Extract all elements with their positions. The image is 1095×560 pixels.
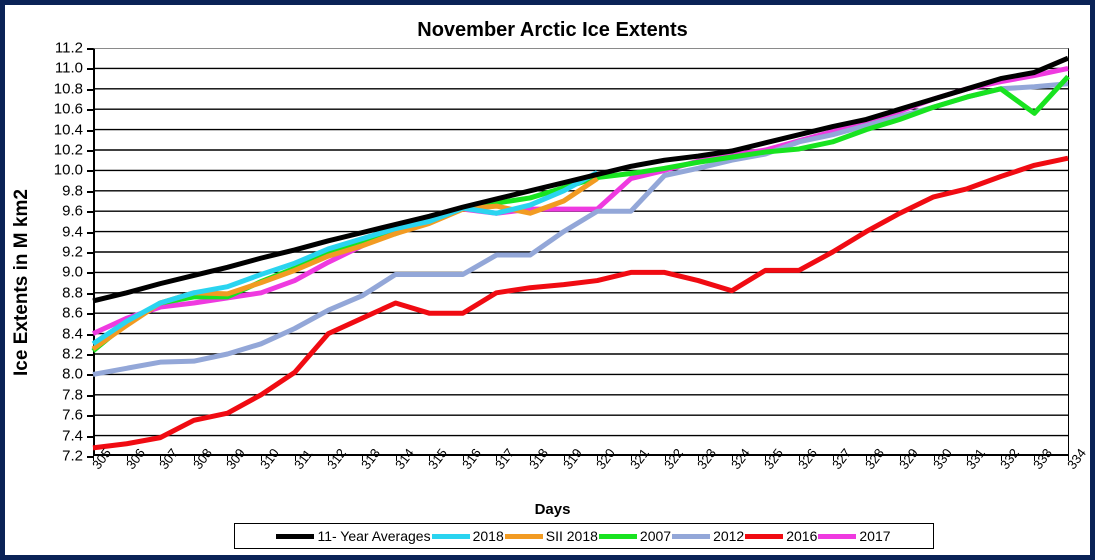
legend-label: 11- Year Averages xyxy=(317,528,430,544)
series-line xyxy=(93,58,1068,301)
y-axis-tick-label: 10.0 xyxy=(54,162,83,179)
legend-label: 2016 xyxy=(786,528,817,544)
legend-item[interactable]: 2018 xyxy=(432,528,505,544)
y-axis-tick-label: 11.0 xyxy=(55,60,83,77)
legend-item[interactable]: SII 2018 xyxy=(505,528,599,544)
legend-item[interactable]: 11- Year Averages xyxy=(276,528,431,544)
legend-item[interactable]: 2007 xyxy=(599,528,672,544)
legend-label: 2012 xyxy=(713,528,744,544)
chart-legend: 11- Year Averages2018SII 201820072012201… xyxy=(234,523,934,549)
y-axis-tick-label: 11.2 xyxy=(55,40,83,57)
legend-label: 2007 xyxy=(640,528,671,544)
y-axis-tick-label: 8.8 xyxy=(62,284,83,301)
y-axis-tick-label: 8.2 xyxy=(62,346,83,363)
y-axis-tick-label: 10.4 xyxy=(54,121,83,138)
legend-item[interactable]: 2017 xyxy=(818,528,891,544)
y-axis-tick-label: 9.2 xyxy=(62,244,83,261)
series-line xyxy=(93,158,1068,448)
x-axis-ticks: 3053063073083093103113123133143153163173… xyxy=(93,456,1069,502)
chart-title: November Arctic Ice Extents xyxy=(5,19,1095,42)
y-axis-tick-label: 7.2 xyxy=(62,448,83,465)
legend-item[interactable]: 2016 xyxy=(745,528,818,544)
legend-swatch-icon xyxy=(818,534,856,539)
legend-label: 2018 xyxy=(473,528,504,544)
y-axis-tick-label: 10.6 xyxy=(54,101,83,118)
y-axis-tick-label: 7.4 xyxy=(62,427,83,444)
legend-swatch-icon xyxy=(672,534,710,539)
y-axis-tick-label: 8.6 xyxy=(62,305,83,322)
y-axis-tick-label: 7.6 xyxy=(62,407,83,424)
y-axis-tick-label: 10.2 xyxy=(54,142,83,159)
y-axis-tick-label: 9.6 xyxy=(62,203,83,220)
y-axis-tick-label: 9.4 xyxy=(62,223,83,240)
legend-swatch-icon xyxy=(432,534,470,539)
legend-swatch-icon xyxy=(505,534,543,539)
series-line xyxy=(93,77,1068,351)
y-axis-tick-label: 7.8 xyxy=(62,386,83,403)
y-axis-tick-label: 9.0 xyxy=(62,264,83,281)
legend-swatch-icon xyxy=(599,534,637,539)
y-axis-tick-label: 10.8 xyxy=(54,80,83,97)
y-axis-ticks: 11.211.010.810.610.410.210.09.89.69.49.2… xyxy=(5,48,89,456)
legend-label: 2017 xyxy=(859,528,890,544)
legend-label: SII 2018 xyxy=(546,528,598,544)
y-axis-tick-label: 8.0 xyxy=(62,366,83,383)
y-axis-tick-label: 8.4 xyxy=(62,325,83,342)
legend-swatch-icon xyxy=(276,534,314,539)
chart-frame: November Arctic Ice Extents Ice Extents … xyxy=(0,0,1095,560)
legend-swatch-icon xyxy=(745,534,783,539)
y-axis-tick-label: 9.8 xyxy=(62,182,83,199)
x-axis-label: Days xyxy=(5,501,1095,518)
legend-item[interactable]: 2012 xyxy=(672,528,745,544)
series-line xyxy=(93,84,1068,375)
plot-area xyxy=(93,48,1069,456)
series-lines xyxy=(93,48,1069,456)
